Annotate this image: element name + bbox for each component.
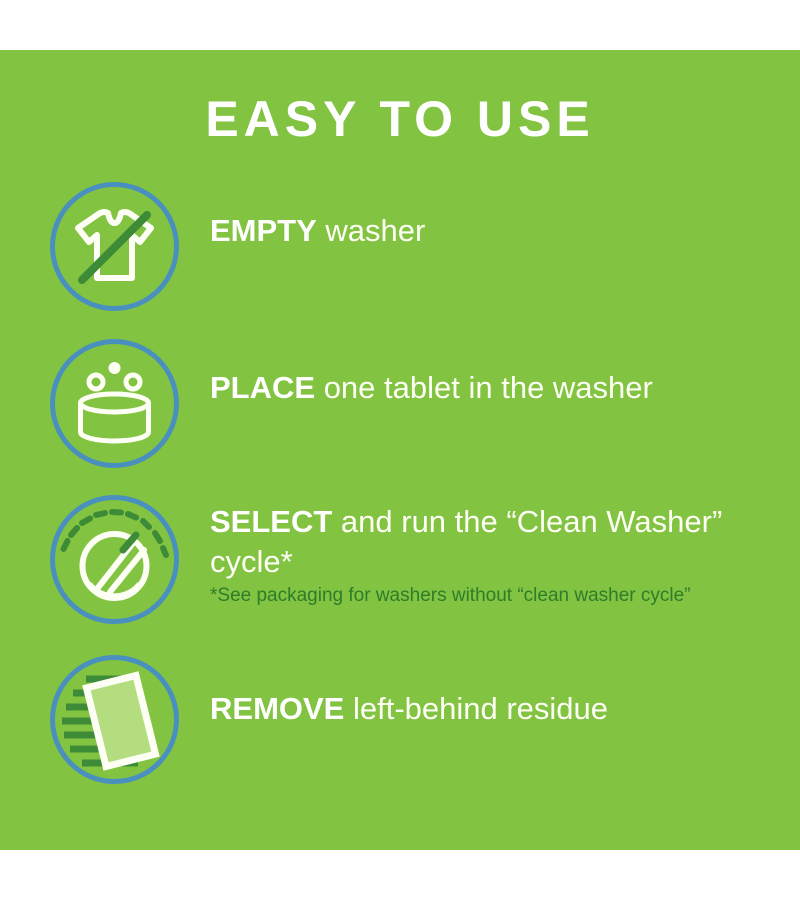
step-footnote: *See packaging for washers without “clea… [210, 585, 700, 608]
step-row-remove: REMOVE left-behind residue [0, 653, 800, 793]
step-line: SELECT and run the “Clean Washer” cycle* [210, 502, 780, 582]
step-rest: washer [317, 213, 426, 248]
tablet-with-bubbles-icon [48, 337, 181, 470]
residue-wipe-icon [48, 653, 181, 786]
step-text-place: PLACE one tablet in the washer [210, 368, 780, 408]
poster-root: EASY TO USE EMPTY washer PL [0, 0, 800, 900]
step-row-select: SELECT and run the “Clean Washer” cycle*… [0, 493, 800, 633]
step-row-place: PLACE one tablet in the washer [0, 337, 800, 477]
step-keyword: REMOVE [210, 691, 344, 726]
step-rest: one tablet in the washer [315, 370, 653, 405]
step-keyword: EMPTY [210, 213, 317, 248]
step-keyword: PLACE [210, 370, 315, 405]
tshirt-no-laundry-icon [48, 180, 181, 313]
step-text-empty: EMPTY washer [210, 211, 780, 251]
step-line: REMOVE left-behind residue [210, 689, 780, 729]
washer-dial-icon [48, 493, 181, 626]
step-keyword: SELECT [210, 504, 332, 539]
page-title: EASY TO USE [0, 93, 800, 146]
step-row-empty: EMPTY washer [0, 180, 800, 320]
step-text-select: SELECT and run the “Clean Washer” cycle*… [210, 502, 780, 608]
step-rest: left-behind residue [344, 691, 608, 726]
step-text-remove: REMOVE left-behind residue [210, 689, 780, 729]
step-line: EMPTY washer [210, 211, 780, 251]
step-line: PLACE one tablet in the washer [210, 368, 780, 408]
